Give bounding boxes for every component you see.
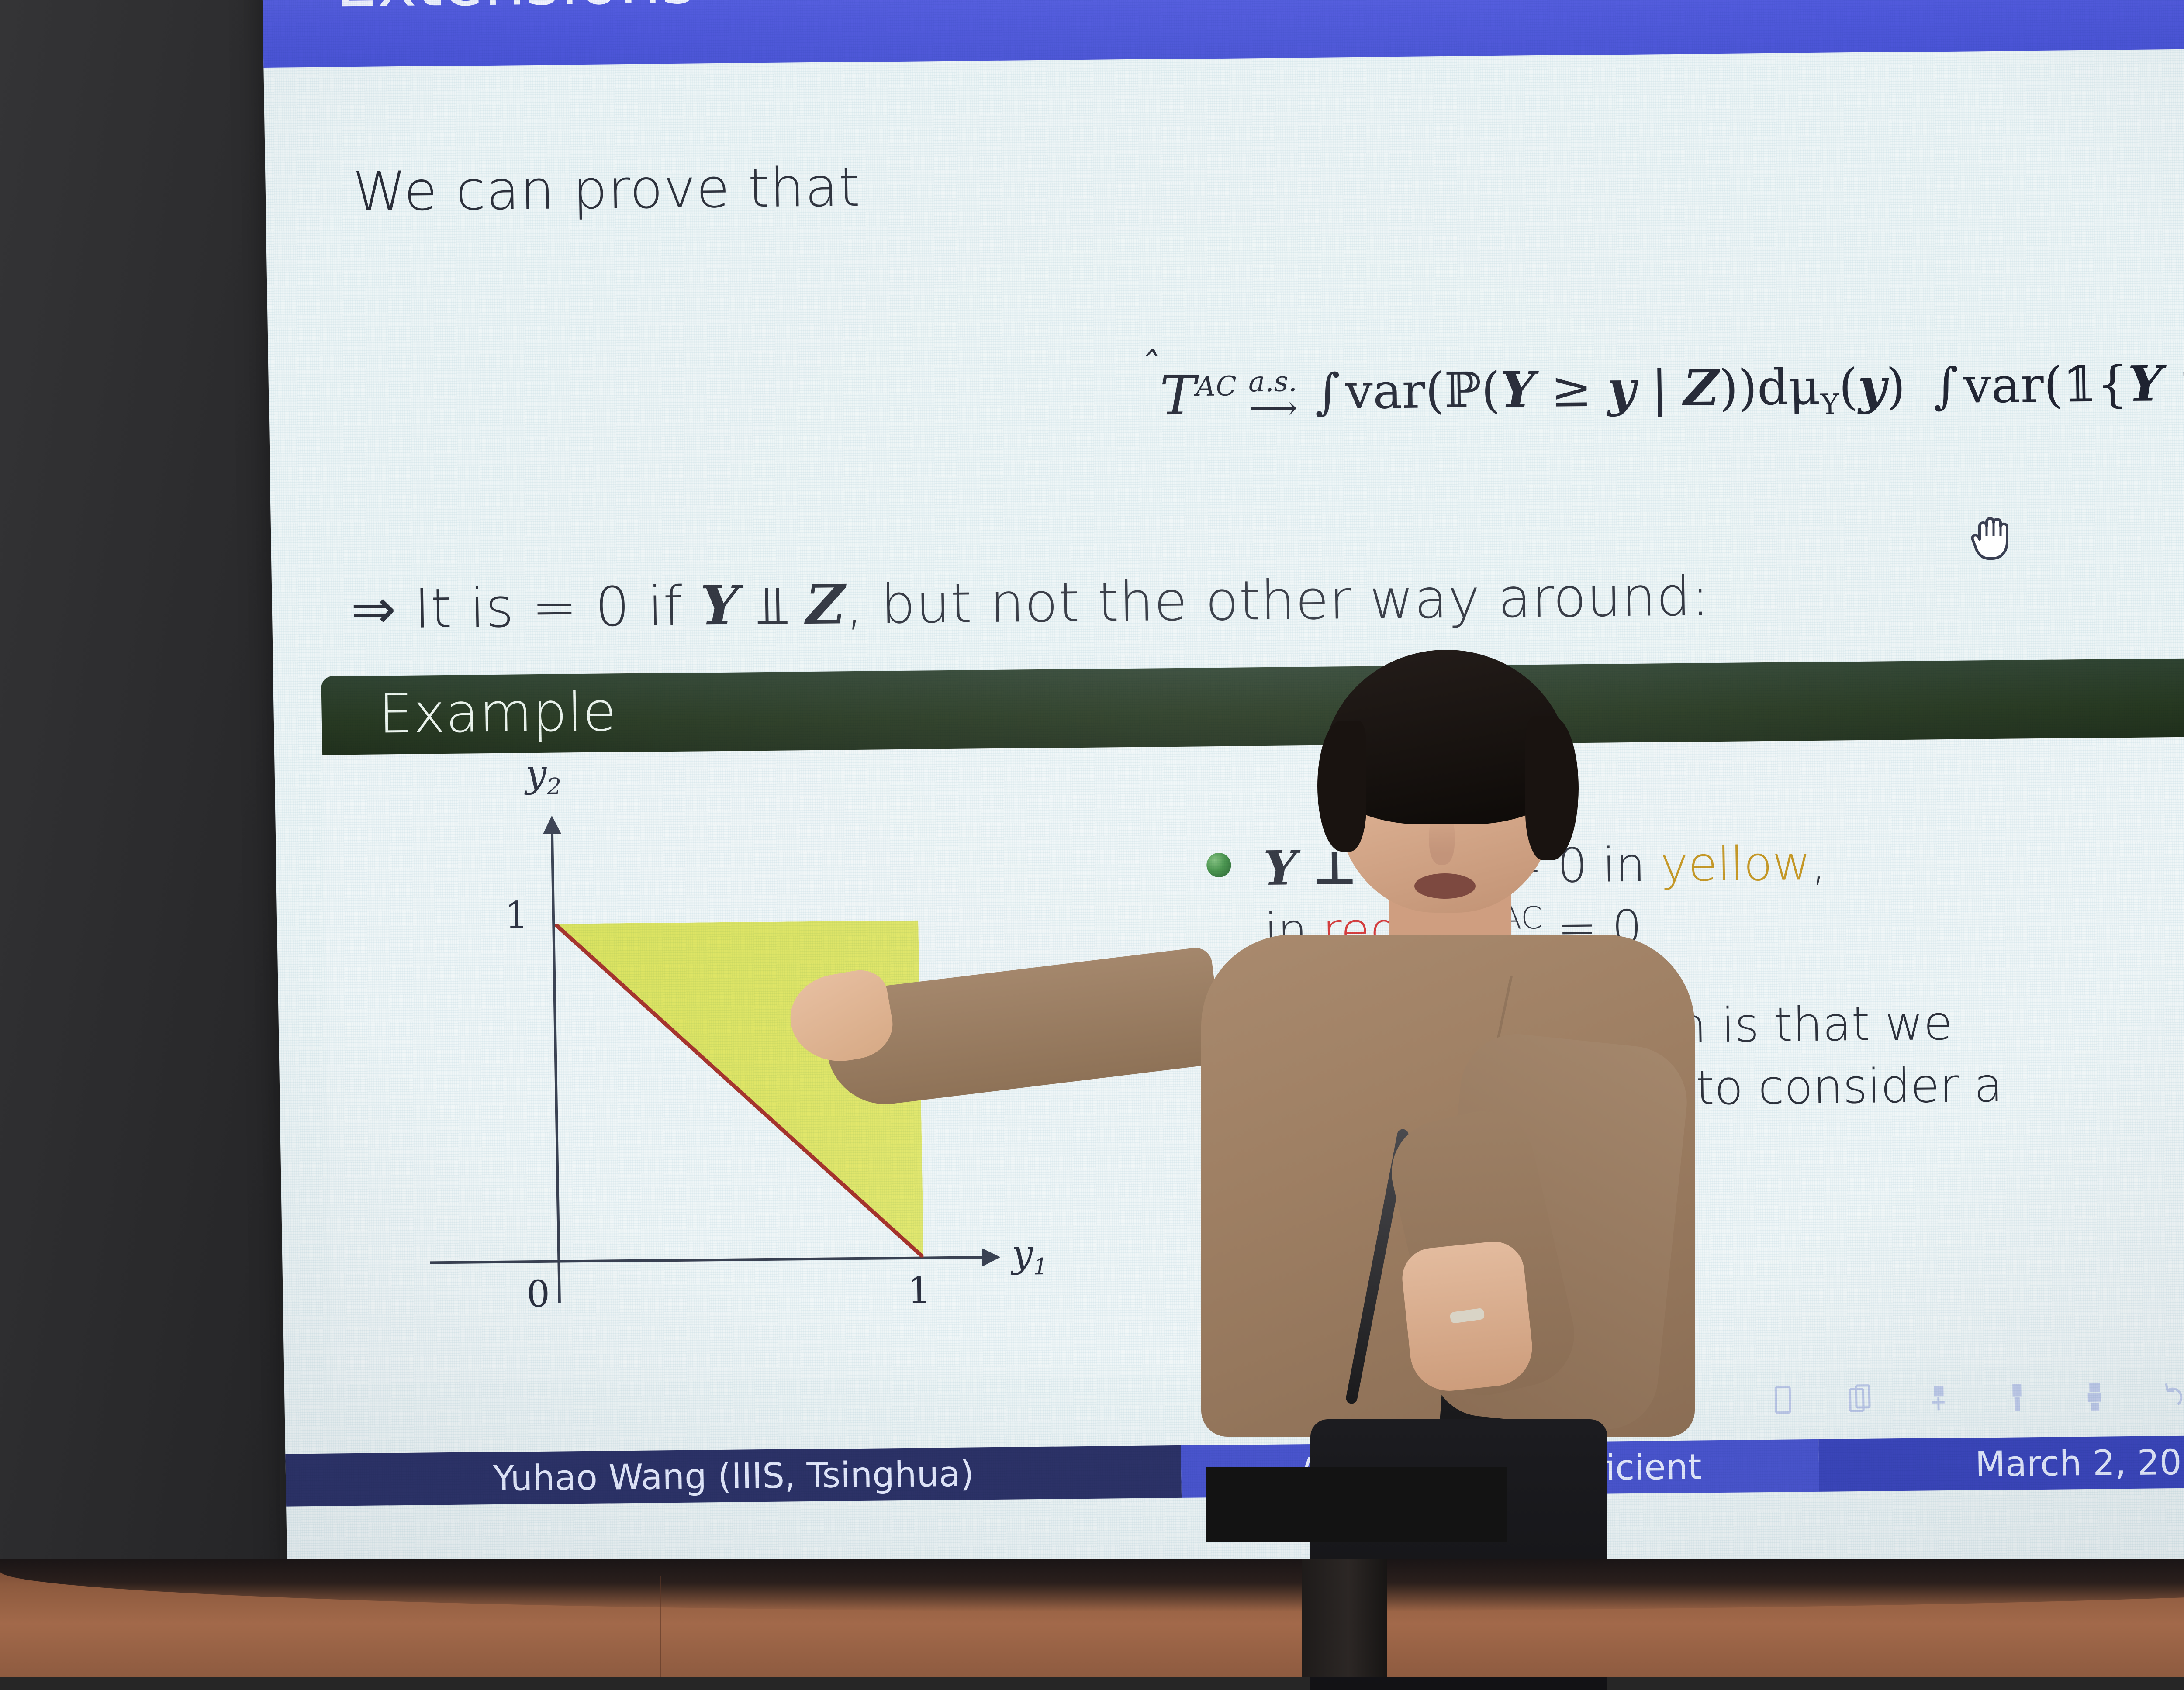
- chart-ytick-1: 1: [505, 893, 529, 937]
- speaker-hair-side-left: [1317, 721, 1366, 852]
- chart-xtick-1: 1: [907, 1269, 931, 1312]
- convergence-arrow-group: a.s. ⟶: [1248, 369, 1298, 421]
- pdf-toolbar[interactable]: [1769, 1362, 2184, 1431]
- example-header-label: Example: [378, 680, 617, 745]
- pan-hand-cursor[interactable]: [1966, 509, 2018, 566]
- footer-date: March 2, 2026: [1818, 1434, 2184, 1492]
- formula-lhs: ̂TAC: [1159, 364, 1237, 428]
- lecture-room-scene: Extensions We can prove that ̂TAC a.s. ⟶: [0, 0, 2184, 1677]
- implies-arrow-icon: ⇒: [350, 578, 397, 641]
- page-view-icon[interactable]: [1925, 1382, 1952, 1416]
- implication-line: ⇒ It is = 0 if Y ⫫ Z, but not the other …: [350, 565, 1711, 642]
- page-title: Extensions: [335, 0, 696, 22]
- implies-text-after: , but not the other way around:: [845, 565, 1711, 636]
- long-right-arrow-icon: ⟶: [1248, 395, 1298, 421]
- independence-symbol-icon: ⫫: [757, 574, 788, 637]
- main-formula: ̂TAC a.s. ⟶ ∫ var(ℙ(Y ≥ y | Z))dμY(y): [1159, 352, 2184, 428]
- speaker-mouth: [1414, 873, 1476, 899]
- hat-accent: ̂: [1160, 345, 1161, 388]
- first-page-icon[interactable]: [1769, 1383, 1796, 1417]
- implies-var-y: Y: [700, 574, 740, 638]
- lead-text: We can prove that: [352, 156, 861, 224]
- two-page-view-icon[interactable]: [1847, 1383, 1874, 1417]
- fit-width-icon[interactable]: [2080, 1381, 2107, 1414]
- chart-origin-tick: 0: [526, 1273, 550, 1316]
- formula-lhs-superscript: AC: [1196, 370, 1237, 402]
- fraction-denominator: ∫ var(𝟙{Y ≥ y})dμY(y): [1927, 347, 2184, 415]
- left-wall: [0, 0, 280, 1598]
- wood-panel-seam: [660, 1576, 661, 1677]
- implies-text-before: It is = 0 if: [414, 575, 683, 641]
- footer-author: Yuhao Wang (IIIS, Tsinghua): [285, 1445, 1182, 1507]
- undo-icon[interactable]: [2158, 1380, 2184, 1414]
- speaker-footer-occlusion: [1206, 1467, 1507, 1542]
- chart-xlabel: y1: [1011, 1232, 1047, 1280]
- implies-var-z: Z: [805, 573, 846, 637]
- speaker-hair-side-right: [1525, 716, 1579, 860]
- wood-wall-panel: [0, 1559, 2184, 1677]
- chart-ylabel: y2: [525, 752, 561, 800]
- fraction: ∫ var(ℙ(Y ≥ y | Z))dμY(y) ∫ var(𝟙{Y ≥ y}…: [1308, 352, 2184, 426]
- fit-page-icon[interactable]: [2003, 1381, 2029, 1415]
- fraction-numerator: ∫ var(ℙ(Y ≥ y | Z))dμY(y): [1308, 358, 1928, 425]
- wood-panel-post: [1302, 1559, 1387, 1677]
